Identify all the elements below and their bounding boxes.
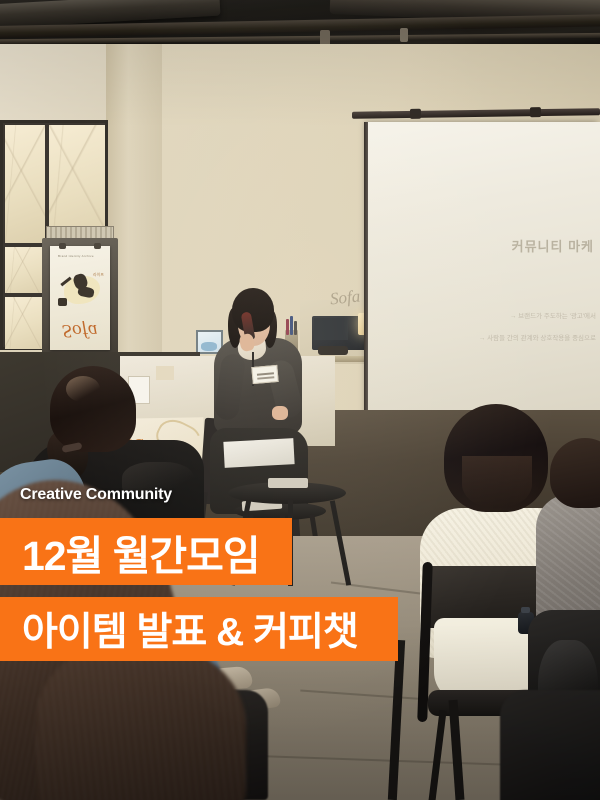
- headline-band-2: 아이템 발표 & 커피챗: [0, 597, 398, 661]
- kicker-label: Creative Community: [20, 486, 172, 504]
- event-promo-image: Brand Identity Archive 라이프 Sofa Sofa: [0, 0, 600, 800]
- text-overlay: Creative Community 12월 월간모임 아이템 발표 & 커피챗: [0, 0, 600, 800]
- headline-band-1: 12월 월간모임: [0, 518, 292, 585]
